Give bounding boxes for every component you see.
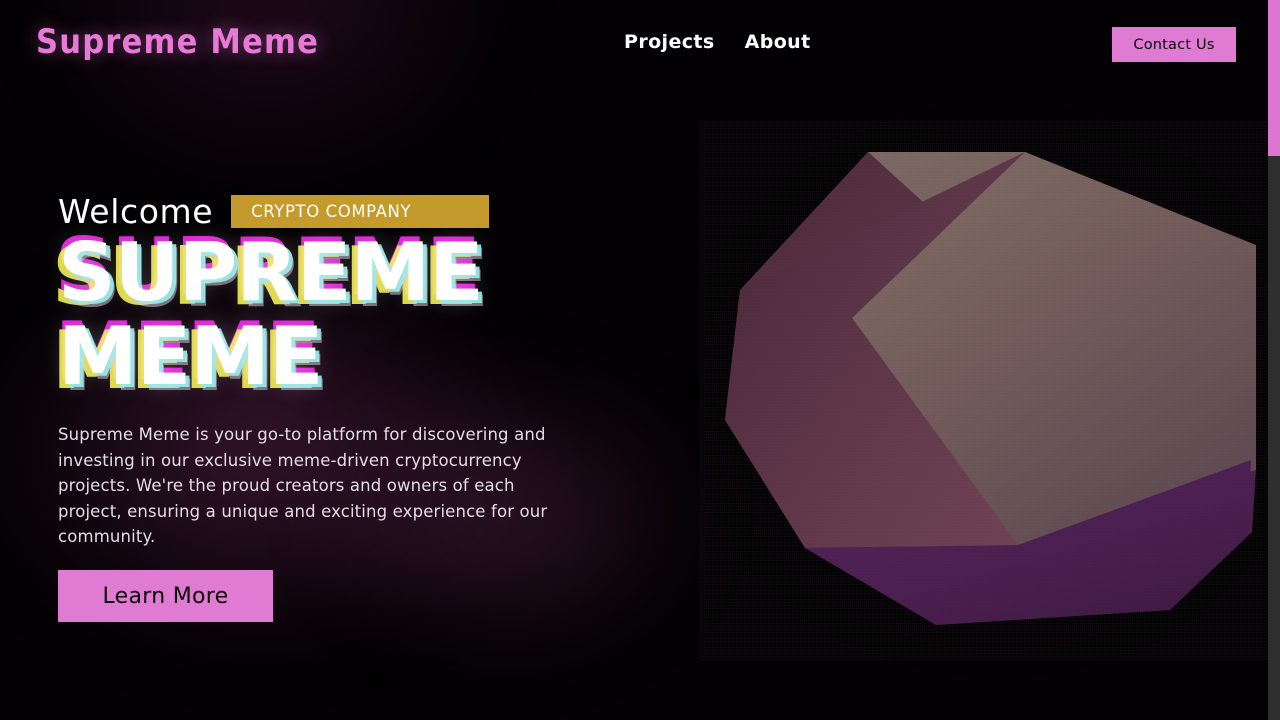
contact-us-button[interactable]: Contact Us [1112, 27, 1236, 62]
headline-2-text: MEME [58, 310, 323, 403]
hero-description: Supreme Meme is your go-to platform for … [58, 422, 578, 550]
crypto-company-badge-label: CRYPTO COMPANY [251, 202, 411, 221]
page-root: Supreme Meme Projects About Contact Us W… [0, 0, 1280, 720]
dodecahedron-faces [700, 120, 1280, 660]
hero-headline-line-1: SUPREME SUPREME SUPREME SUPREME SUPREME [58, 234, 483, 312]
hero-headline-line-2: MEME MEME MEME MEME MEME [58, 318, 323, 396]
page-scrollbar-thumb[interactable] [1268, 0, 1280, 156]
nav-item-projects[interactable]: Projects [624, 31, 715, 53]
main-navigation: Projects About [624, 31, 811, 53]
hero-section: Welcome CRYPTO COMPANY SUPREME SUPREME S… [0, 0, 660, 720]
site-header: Supreme Meme Projects About Contact Us [0, 0, 1268, 90]
nav-item-about[interactable]: About [745, 31, 811, 53]
dodecahedron-3d-shape [700, 120, 1280, 660]
brand-logo[interactable]: Supreme Meme [36, 22, 319, 62]
learn-more-button[interactable]: Learn More [58, 570, 273, 622]
page-scrollbar-track[interactable] [1268, 0, 1280, 720]
